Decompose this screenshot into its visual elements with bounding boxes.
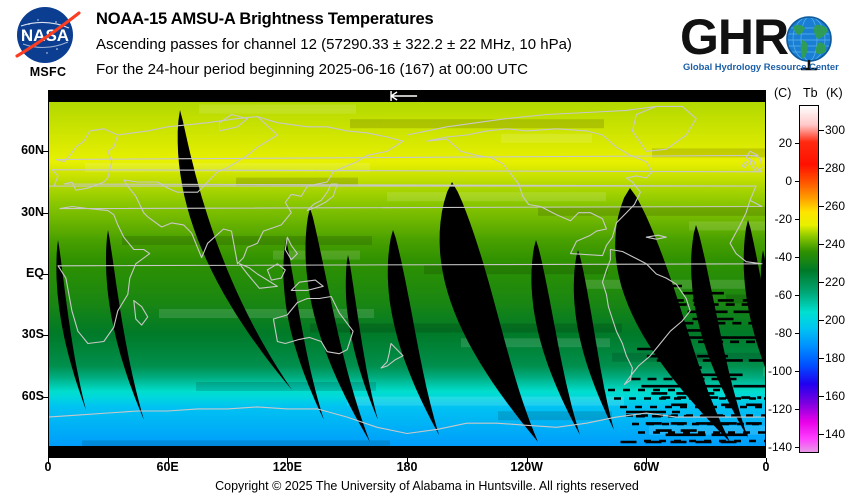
colorbar-tick-celsius (795, 219, 800, 220)
map-ytick-mark (42, 151, 48, 152)
colorbar-label-celsius: 20 (746, 136, 792, 150)
map-ytick-eq: EQ (0, 266, 44, 280)
nasa-logo-icon: NASA (11, 4, 85, 66)
colorbar-gradient (799, 105, 819, 453)
colorbar-label-celsius: -60 (746, 288, 792, 302)
colorbar-label-celsius: -120 (746, 402, 792, 416)
colorbar-label-celsius: -40 (746, 250, 792, 264)
figure-title: NOAA-15 AMSU-A Brightness Temperatures (96, 10, 433, 29)
colorbar-tick-kelvin (819, 130, 824, 131)
colorbar-label-celsius: -140 (746, 440, 792, 454)
map-xtick-mark (527, 458, 528, 464)
colorbar-label-kelvin: 240 (825, 237, 845, 251)
map-xtick-mark (287, 458, 288, 464)
colorbar-label-kelvin: 260 (825, 199, 845, 213)
colorbar-tick-kelvin (819, 282, 824, 283)
colorbar-label-kelvin: 220 (825, 275, 845, 289)
colorbar-celsius-unit: (C) (774, 86, 791, 100)
colorbar-tick-celsius (795, 143, 800, 144)
ghrc-logo-icon: GHRC Global Hydrology Resource Center (678, 6, 846, 76)
colorbar-tick-celsius (795, 447, 800, 448)
colorbar-label-kelvin: 200 (825, 313, 845, 327)
nasa-wordmark: NASA (21, 26, 69, 45)
colorbar-tick-celsius (795, 371, 800, 372)
colorbar-tick-kelvin (819, 358, 824, 359)
map-canvas (48, 90, 766, 458)
map-ytick-mark (42, 335, 48, 336)
map-ytick-60n: 60N (0, 143, 44, 157)
colorbar-label-kelvin: 280 (825, 161, 845, 175)
nasa-center-label: MSFC (11, 65, 85, 79)
colorbar-label-celsius: -80 (746, 326, 792, 340)
map-ytick-mark (42, 274, 48, 275)
colorbar-tick-celsius (795, 409, 800, 410)
colorbar-label-kelvin: 300 (825, 123, 845, 137)
map-xtick-mark (646, 458, 647, 464)
colorbar-label-kelvin: 160 (825, 389, 845, 403)
map-ytick-30n: 30N (0, 205, 44, 219)
brightness-temperature-map (48, 90, 766, 458)
colorbar-variable-label: Tb (803, 86, 818, 100)
colorbar-tick-celsius (795, 257, 800, 258)
colorbar-tick-kelvin (819, 434, 824, 435)
colorbar-tick-kelvin (819, 396, 824, 397)
colorbar-tick-kelvin (819, 320, 824, 321)
map-xtick-mark (168, 458, 169, 464)
colorbar-label-kelvin: 180 (825, 351, 845, 365)
colorbar-tick-kelvin (819, 168, 824, 169)
colorbar-kelvin-unit: (K) (826, 86, 843, 100)
figure-subtitle-period: For the 24-hour period beginning 2025-06… (96, 61, 528, 78)
colorbar-label-celsius: -20 (746, 212, 792, 226)
colorbar-label-celsius: 0 (746, 174, 792, 188)
ghrc-expansion-text: Global Hydrology Resource Center (683, 61, 839, 72)
figure-root: NASA MSFC NOAA-15 AMSU-A Brightness Temp… (0, 0, 854, 502)
map-xtick-mark (48, 458, 49, 464)
map-ytick-60s: 60S (0, 389, 44, 403)
colorbar-label-celsius: -100 (746, 364, 792, 378)
copyright-notice: Copyright © 2025 The University of Alaba… (0, 479, 854, 493)
map-ytick-mark (42, 213, 48, 214)
colorbar-tick-celsius (795, 295, 800, 296)
colorbar-tick-kelvin (819, 244, 824, 245)
colorbar-tick-celsius (795, 181, 800, 182)
colorbar-tick-celsius (795, 333, 800, 334)
colorbar-tick-kelvin (819, 206, 824, 207)
colorbar-label-kelvin: 140 (825, 427, 845, 441)
figure-subtitle-channel: Ascending passes for channel 12 (57290.3… (96, 36, 572, 53)
map-xtick-mark (407, 458, 408, 464)
map-xtick-mark (766, 458, 767, 464)
map-ytick-mark (42, 397, 48, 398)
map-ytick-30s: 30S (0, 327, 44, 341)
colorbar (799, 105, 819, 453)
